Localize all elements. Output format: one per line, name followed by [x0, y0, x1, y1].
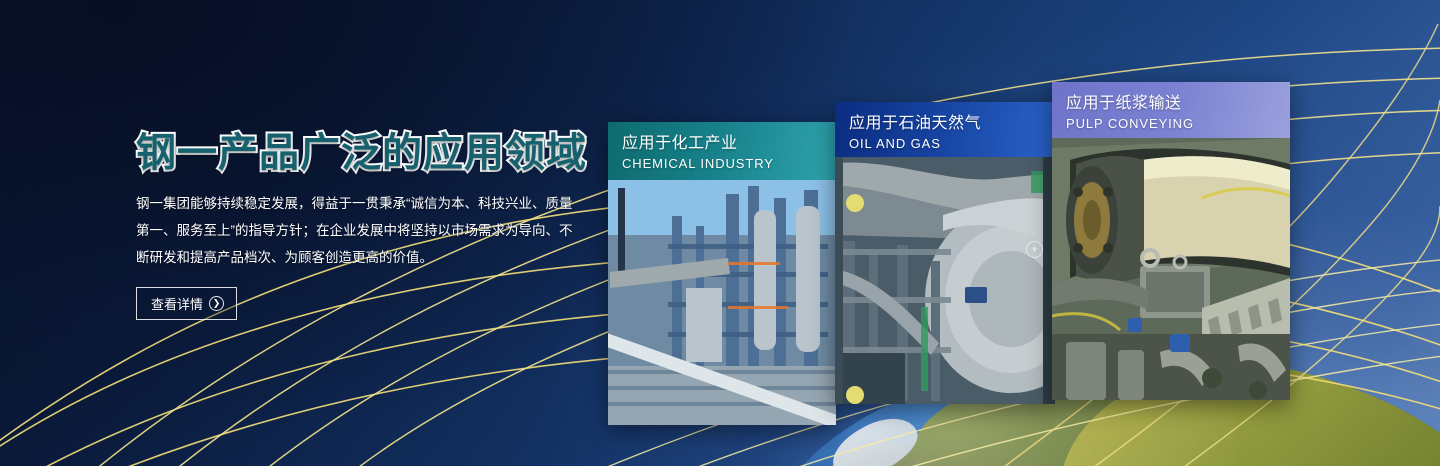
card-title-cn: 应用于化工产业: [622, 133, 836, 155]
card-header: 应用于化工产业 CHEMICAL INDUSTRY: [608, 122, 836, 180]
oil-gas-refinery-photo: [835, 157, 1055, 404]
chemical-plant-photo: [608, 180, 836, 425]
application-cards: 应用于化工产业 CHEMICAL INDUSTRY: [0, 0, 1440, 466]
card-title-en: OIL AND GAS: [849, 135, 1055, 153]
card-header: 应用于石油天然气 OIL AND GAS: [835, 102, 1055, 157]
card-title-cn: 应用于纸浆输送: [1066, 93, 1290, 115]
plant-illustration: [608, 180, 836, 425]
card-title-cn: 应用于石油天然气: [849, 113, 1055, 135]
card-title-en: CHEMICAL INDUSTRY: [622, 155, 836, 173]
card-header: 应用于纸浆输送 PULP CONVEYING: [1052, 82, 1290, 138]
card-pulp-conveying[interactable]: 应用于纸浆输送 PULP CONVEYING: [1052, 82, 1290, 400]
card-title-en: PULP CONVEYING: [1066, 115, 1290, 133]
refinery-illustration: [835, 157, 1055, 404]
pulp-paper-machine-photo: [1052, 138, 1290, 400]
hero-banner: 钢一产品广泛的应用领域 钢一集团能够持续稳定发展，得益于一贯秉承“诚信为本、科技…: [0, 0, 1440, 466]
paper-mill-illustration: [1052, 138, 1290, 400]
card-chemical-industry[interactable]: 应用于化工产业 CHEMICAL INDUSTRY: [608, 122, 836, 425]
card-oil-and-gas[interactable]: 应用于石油天然气 OIL AND GAS: [835, 102, 1055, 404]
